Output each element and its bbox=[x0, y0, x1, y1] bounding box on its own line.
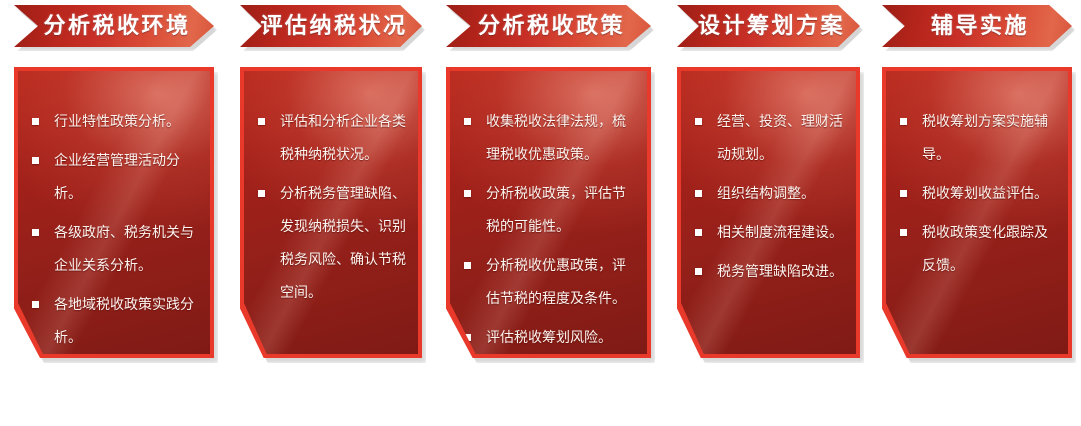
banner-inner-4: 设计筹划方案 bbox=[692, 15, 845, 38]
stage-panel-3: 收集税收法律法规，梳理税收优惠政策。 分析税收政策，评估节税的可能性。 分析税收… bbox=[446, 67, 651, 358]
stage-title-4: 设计筹划方案 bbox=[692, 13, 845, 38]
list-item: 税收筹划收益评估。 bbox=[900, 177, 1056, 210]
process-stage-3: 分析税收政策 收集税收法律法规，梳理税收优惠政策。 分析税收政策，评估节税的可能… bbox=[446, 0, 651, 401]
square-bullet-icon bbox=[900, 190, 907, 197]
banner-inner-5: 辅导实施 bbox=[925, 15, 1029, 38]
list-item: 税务管理缺陷改进。 bbox=[695, 255, 844, 288]
square-bullet-icon bbox=[464, 118, 471, 125]
banner-ribbon-3[interactable]: 分析税收政策 bbox=[446, 5, 651, 47]
process-stage-1: 分析税收环境 行业特性政策分析。 企业经营管理活动分析。 各级政府、税务机关与企… bbox=[14, 0, 214, 401]
square-bullet-icon bbox=[695, 118, 702, 125]
square-bullet-icon bbox=[258, 190, 265, 197]
list-item: 评估和分析企业各类税种纳税状况。 bbox=[258, 105, 406, 171]
panel-fill-5: 税收筹划方案实施辅导。 税收筹划收益评估。 税收政策变化跟踪及反馈。 bbox=[886, 71, 1068, 354]
list-item: 企业经营管理活动分析。 bbox=[32, 144, 198, 210]
square-bullet-icon bbox=[695, 229, 702, 236]
square-bullet-icon bbox=[900, 229, 907, 236]
list-item: 组织结构调整。 bbox=[695, 177, 844, 210]
banner-ribbon-4[interactable]: 设计筹划方案 bbox=[677, 5, 860, 47]
stage-banner-4[interactable]: 设计筹划方案 bbox=[677, 5, 860, 52]
square-bullet-icon bbox=[464, 262, 471, 269]
square-bullet-icon bbox=[464, 190, 471, 197]
process-stage-5: 辅导实施 税收筹划方案实施辅导。 税收筹划收益评估。 税收政策变化跟踪及反馈。 bbox=[882, 0, 1072, 401]
square-bullet-icon bbox=[258, 118, 265, 125]
stage-title-5: 辅导实施 bbox=[925, 13, 1029, 38]
list-item: 经营、投资、理财活动规划。 bbox=[695, 105, 844, 171]
bullet-list-3: 收集税收法律法规，梳理税收优惠政策。 分析税收政策，评估节税的可能性。 分析税收… bbox=[464, 105, 635, 426]
banner-ribbon-2[interactable]: 评估纳税状况 bbox=[240, 5, 422, 47]
stage-panel-2: 评估和分析企业各类税种纳税状况。 分析税务管理缺陷、发现纳税损失、识别税务风险、… bbox=[240, 67, 422, 358]
stage-panel-wrap-5: 税收筹划方案实施辅导。 税收筹划收益评估。 税收政策变化跟踪及反馈。 bbox=[882, 67, 1072, 358]
banner-inner-3: 分析税收政策 bbox=[472, 15, 625, 38]
stage-panel-1: 行业特性政策分析。 企业经营管理活动分析。 各级政府、税务机关与企业关系分析。 … bbox=[14, 67, 214, 358]
list-item: 相关制度流程建设。 bbox=[695, 216, 844, 249]
square-bullet-icon bbox=[32, 229, 39, 236]
bullet-list-4: 经营、投资、理财活动规划。 组织结构调整。 相关制度流程建设。 税务管理缺陷改进… bbox=[695, 105, 844, 288]
list-item: 税收筹划方案实施辅导。 bbox=[900, 105, 1056, 171]
square-bullet-icon bbox=[464, 334, 471, 341]
list-item: 分析税收优惠政策，评估节税的程度及条件。 bbox=[464, 249, 635, 315]
list-item: 各地域税收政策实践分析。 bbox=[32, 288, 198, 354]
banner-inner-1: 分析税收环境 bbox=[37, 15, 190, 38]
square-bullet-icon bbox=[464, 373, 471, 380]
square-bullet-icon bbox=[695, 268, 702, 275]
list-item: 确定实现税收优惠的途径。 bbox=[464, 360, 635, 426]
stage-panel-4: 经营、投资、理财活动规划。 组织结构调整。 相关制度流程建设。 税务管理缺陷改进… bbox=[677, 67, 860, 358]
list-item: 各级政府、税务机关与企业关系分析。 bbox=[32, 216, 198, 282]
square-bullet-icon bbox=[695, 190, 702, 197]
bullet-list-2: 评估和分析企业各类税种纳税状况。 分析税务管理缺陷、发现纳税损失、识别税务风险、… bbox=[258, 105, 406, 309]
stage-panel-wrap-3: 收集税收法律法规，梳理税收优惠政策。 分析税收政策，评估节税的可能性。 分析税收… bbox=[446, 67, 651, 358]
list-item: 评估税收筹划风险。 bbox=[464, 321, 635, 354]
stage-panel-wrap-1: 行业特性政策分析。 企业经营管理活动分析。 各级政府、税务机关与企业关系分析。 … bbox=[14, 67, 214, 358]
stage-banner-2[interactable]: 评估纳税状况 bbox=[240, 5, 422, 52]
list-item: 分析税收政策，评估节税的可能性。 bbox=[464, 177, 635, 243]
stage-panel-wrap-2: 评估和分析企业各类税种纳税状况。 分析税务管理缺陷、发现纳税损失、识别税务风险、… bbox=[240, 67, 422, 358]
process-flow-diagram: 分析税收环境 行业特性政策分析。 企业经营管理活动分析。 各级政府、税务机关与企… bbox=[0, 0, 1081, 401]
bullet-list-5: 税收筹划方案实施辅导。 税收筹划收益评估。 税收政策变化跟踪及反馈。 bbox=[900, 105, 1056, 282]
square-bullet-icon bbox=[32, 118, 39, 125]
panel-fill-4: 经营、投资、理财活动规划。 组织结构调整。 相关制度流程建设。 税务管理缺陷改进… bbox=[681, 71, 856, 354]
process-stage-2: 评估纳税状况 评估和分析企业各类税种纳税状况。 分析税务管理缺陷、发现纳税损失、… bbox=[240, 0, 422, 401]
banner-ribbon-5[interactable]: 辅导实施 bbox=[882, 5, 1072, 47]
stage-panel-wrap-4: 经营、投资、理财活动规划。 组织结构调整。 相关制度流程建设。 税务管理缺陷改进… bbox=[677, 67, 860, 358]
stage-banner-3[interactable]: 分析税收政策 bbox=[446, 5, 651, 52]
square-bullet-icon bbox=[32, 301, 39, 308]
stage-title-2: 评估纳税状况 bbox=[254, 13, 407, 38]
banner-ribbon-1[interactable]: 分析税收环境 bbox=[14, 5, 214, 47]
list-item: 税收政策变化跟踪及反馈。 bbox=[900, 216, 1056, 282]
stage-banner-1[interactable]: 分析税收环境 bbox=[14, 5, 214, 52]
stage-title-1: 分析税收环境 bbox=[37, 13, 190, 38]
list-item: 分析税务管理缺陷、发现纳税损失、识别税务风险、确认节税空间。 bbox=[258, 177, 406, 309]
stage-banner-5[interactable]: 辅导实施 bbox=[882, 5, 1072, 52]
banner-inner-2: 评估纳税状况 bbox=[254, 15, 407, 38]
panel-fill-3: 收集税收法律法规，梳理税收优惠政策。 分析税收政策，评估节税的可能性。 分析税收… bbox=[450, 71, 647, 354]
panel-fill-2: 评估和分析企业各类税种纳税状况。 分析税务管理缺陷、发现纳税损失、识别税务风险、… bbox=[244, 71, 418, 354]
process-stage-4: 设计筹划方案 经营、投资、理财活动规划。 组织结构调整。 相关制度流程建设。 税… bbox=[677, 0, 860, 401]
list-item: 行业特性政策分析。 bbox=[32, 105, 198, 138]
list-item: 收集税收法律法规，梳理税收优惠政策。 bbox=[464, 105, 635, 171]
square-bullet-icon bbox=[32, 157, 39, 164]
square-bullet-icon bbox=[900, 118, 907, 125]
bullet-list-1: 行业特性政策分析。 企业经营管理活动分析。 各级政府、税务机关与企业关系分析。 … bbox=[32, 105, 198, 354]
panel-fill-1: 行业特性政策分析。 企业经营管理活动分析。 各级政府、税务机关与企业关系分析。 … bbox=[18, 71, 210, 354]
stage-title-3: 分析税收政策 bbox=[472, 13, 625, 38]
stage-panel-5: 税收筹划方案实施辅导。 税收筹划收益评估。 税收政策变化跟踪及反馈。 bbox=[882, 67, 1072, 358]
